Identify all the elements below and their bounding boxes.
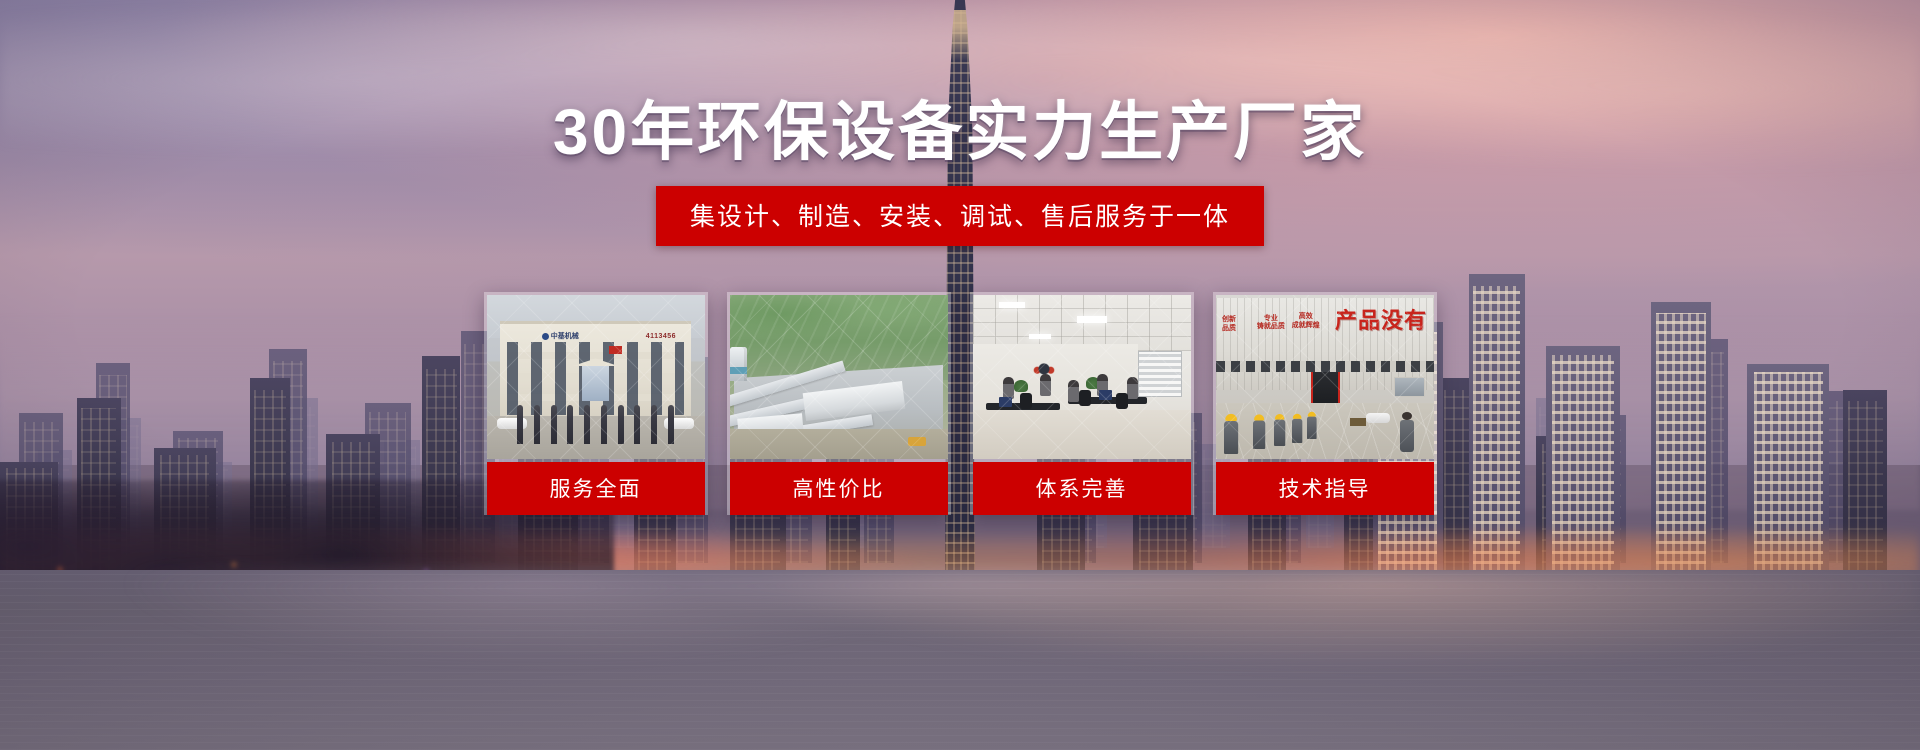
worker-with-hardhat — [1274, 414, 1285, 446]
feature-card-list: 中基机械 4113456 服务全面 — [484, 292, 1437, 515]
factory-wall-signage: 产品没有 — [1335, 303, 1427, 335]
feature-card-caption: 技术指导 — [1216, 462, 1434, 515]
window-blinds — [1138, 351, 1182, 397]
feature-card[interactable]: 体系完善 — [970, 292, 1194, 515]
worker-with-hardhat — [1224, 414, 1238, 454]
wall-logo-decal — [1031, 359, 1057, 375]
feature-card[interactable]: 创新品质 专业铸就品质 高效成就辉煌 产品没有 — [1213, 292, 1437, 515]
worker-with-hardhat — [1253, 414, 1265, 449]
feature-card[interactable]: 中基机械 4113456 服务全面 — [484, 292, 708, 515]
feature-card[interactable]: 高性价比 — [727, 292, 951, 515]
truck-shape — [908, 437, 926, 446]
card-photo-office-interior — [973, 295, 1191, 459]
banner-subtitle-ribbon: 集设计、制造、安装、调试、售后服务于一体 — [656, 186, 1264, 246]
feature-card-caption: 高性价比 — [730, 462, 948, 515]
car-shape — [1366, 413, 1390, 423]
wall-slogan: 创新品质 — [1222, 316, 1236, 334]
flag-icon — [609, 346, 622, 354]
hero-banner: 30年环保设备实力生产厂家 集设计、制造、安装、调试、售后服务于一体 中基机械 … — [0, 0, 1920, 750]
card-photo-factory-workers: 创新品质 专业铸就品质 高效成就辉煌 产品没有 — [1216, 295, 1434, 459]
worker-with-hardhat — [1307, 412, 1317, 439]
instructor-figure — [1400, 412, 1414, 452]
feature-card-caption: 服务全面 — [487, 462, 705, 515]
banner-headline: 30年环保设备实力生产厂家 — [553, 100, 1367, 164]
wall-slogan: 高效成就辉煌 — [1292, 313, 1320, 331]
wall-slogan: 专业铸就品质 — [1257, 315, 1285, 333]
worker-with-hardhat — [1292, 413, 1302, 442]
staff-lineup — [517, 405, 674, 444]
card-photo-office-building: 中基机械 4113456 — [487, 295, 705, 459]
banner-content: 30年环保设备实力生产厂家 集设计、制造、安装、调试、售后服务于一体 中基机械 … — [0, 0, 1920, 750]
card-photo-aerial-plant — [730, 295, 948, 459]
feature-card-caption: 体系完善 — [973, 462, 1191, 515]
building-signage: 中基机械 — [542, 332, 607, 340]
building-phone-number: 4113456 — [646, 333, 676, 340]
